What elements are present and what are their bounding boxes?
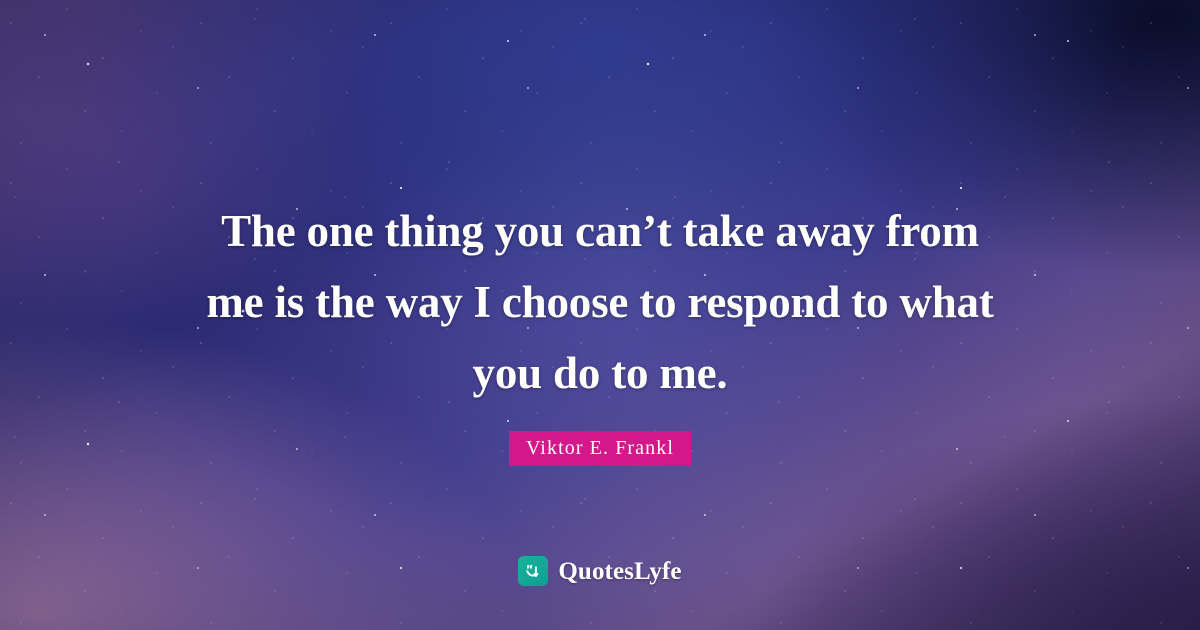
quote-smiley-icon [518, 556, 548, 586]
author-badge: Viktor E. Frankl [509, 431, 691, 466]
brand-logo[interactable]: QuotesLyfe [0, 556, 1200, 586]
quote-card: The one thing you can’t take away from m… [0, 0, 1200, 630]
quote-content: The one thing you can’t take away from m… [0, 0, 1200, 630]
brand-name: QuotesLyfe [558, 559, 681, 584]
quote-text: The one thing you can’t take away from m… [130, 196, 1070, 409]
